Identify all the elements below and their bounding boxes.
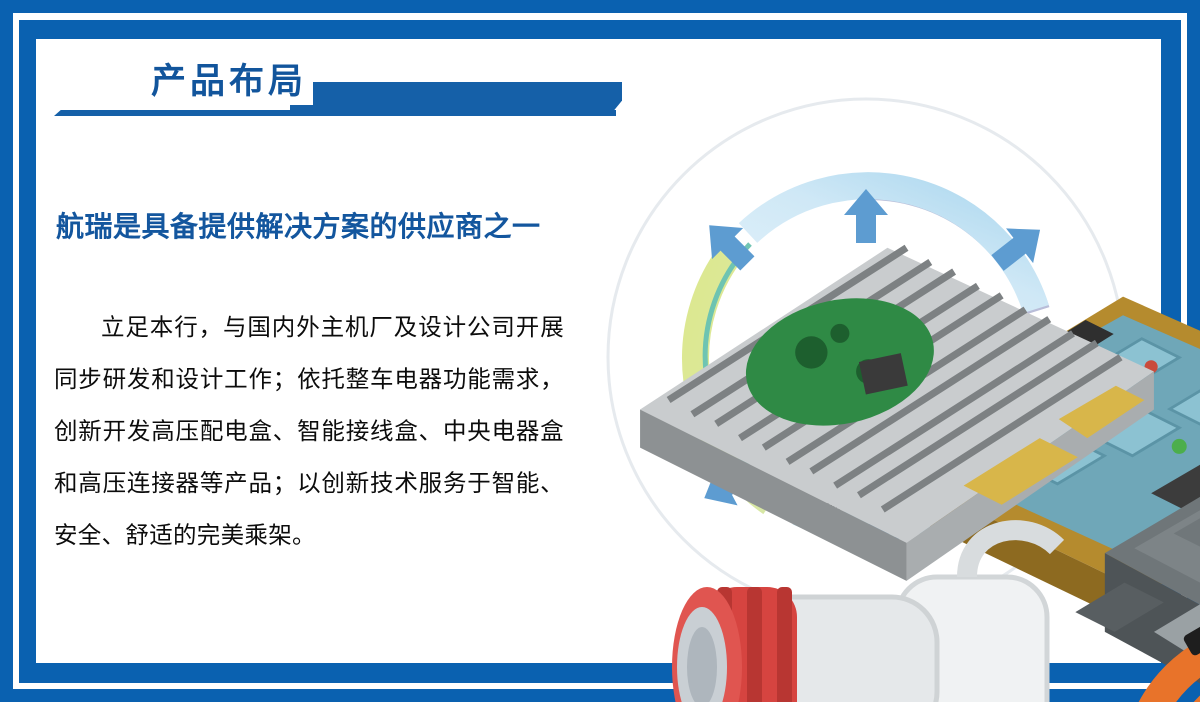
- heading-accent-band: [290, 82, 622, 112]
- product-hv-connector: [602, 467, 1192, 702]
- slide-content: 产品布局 航瑞是具备提供解决方案的供应商之一 立足本行，与国内外主机厂及设计公司…: [36, 39, 1162, 663]
- section-subtitle: 航瑞是具备提供解决方案的供应商之一: [56, 205, 616, 245]
- page-title: 产品布局: [149, 59, 313, 105]
- heading-block: 产品布局: [54, 59, 630, 131]
- slide-root: 产品布局 航瑞是具备提供解决方案的供应商之一 立足本行，与国内外主机厂及设计公司…: [0, 0, 1200, 702]
- heading-accent-rule: [54, 110, 616, 116]
- product-layout-diagram: 具备以车身系统控制 为一体的多元化产品 开发、设计、制造、 服务的能力: [566, 57, 1156, 657]
- section-body-text: 立足本行，与国内外主机厂及设计公司开展同步研发和设计工作；依托整车电器功能需求，…: [54, 301, 564, 561]
